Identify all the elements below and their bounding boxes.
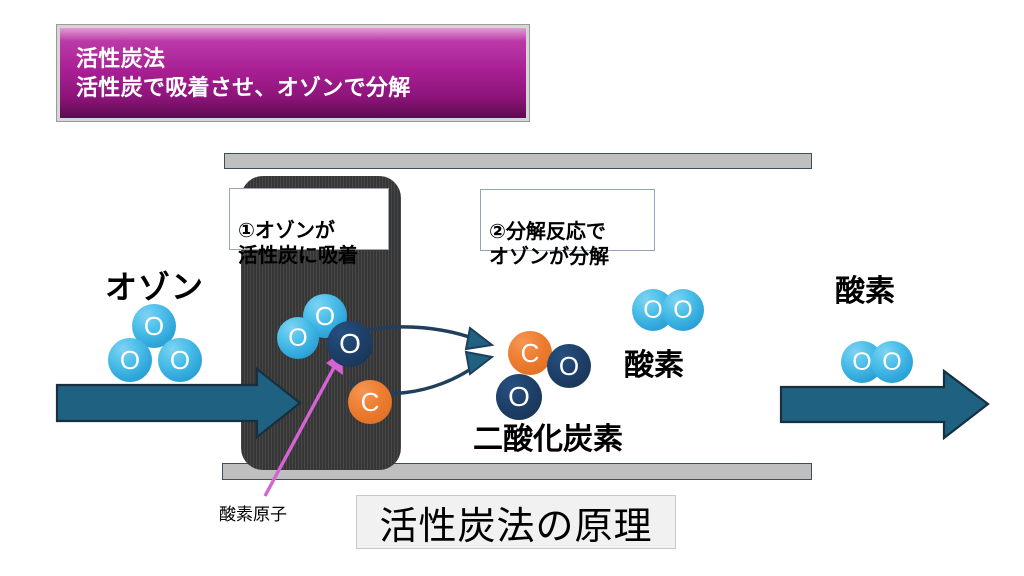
callout-decomposition: ②分解反応で オゾンが分解 — [480, 189, 655, 251]
atom-o-oxygen-outlet-1: O — [871, 341, 913, 383]
caption-box: 活性炭法の原理 — [356, 495, 676, 549]
reaction-arrow-lower-head — [466, 352, 492, 374]
label-oxygen-outlet: 酸素 — [835, 266, 895, 310]
slide-canvas: 活性炭法 活性炭で吸着させ、オゾンで分解 ①オゾンが 活性炭に吸着 ②分解反応で… — [0, 0, 1024, 576]
atom-o-carbon-dioxide-1: O — [547, 344, 591, 388]
atom-o-ozone-inlet-2: O — [158, 338, 202, 382]
label-carbon-dioxide: 二酸化炭素 — [473, 414, 623, 458]
callout-decomposition-text: ②分解反応で オゾンが分解 — [489, 221, 609, 268]
label-ozone-inlet: オゾン — [105, 262, 204, 308]
callout-adsorption: ①オゾンが 活性炭に吸着 — [229, 188, 389, 250]
label-oxygen-atom: 酸素原子 — [219, 500, 287, 525]
caption-text: 活性炭法の原理 — [379, 495, 652, 550]
title-text: 活性炭法 活性炭で吸着させ、オゾンで分解 — [76, 45, 518, 102]
title-banner: 活性炭法 活性炭で吸着させ、オゾンで分解 — [57, 25, 529, 121]
duct-top-bar — [224, 153, 812, 169]
callout-adsorption-text: ①オゾンが 活性炭に吸着 — [238, 220, 358, 267]
label-oxygen-middle: 酸素 — [624, 340, 684, 384]
atom-o-ozone-adsorbed-2: O — [327, 321, 373, 367]
atom-c-carbon-atom-in-block-0: C — [348, 380, 392, 424]
atom-c-carbon-dioxide-0: C — [508, 331, 552, 375]
reaction-arrow-upper-head — [466, 328, 492, 349]
banner-sheen — [60, 28, 526, 41]
atom-o-ozone-inlet-1: O — [108, 338, 152, 382]
atom-o-ozone-adsorbed-1: O — [277, 317, 319, 359]
atom-o-oxygen-middle-1: O — [662, 289, 704, 331]
